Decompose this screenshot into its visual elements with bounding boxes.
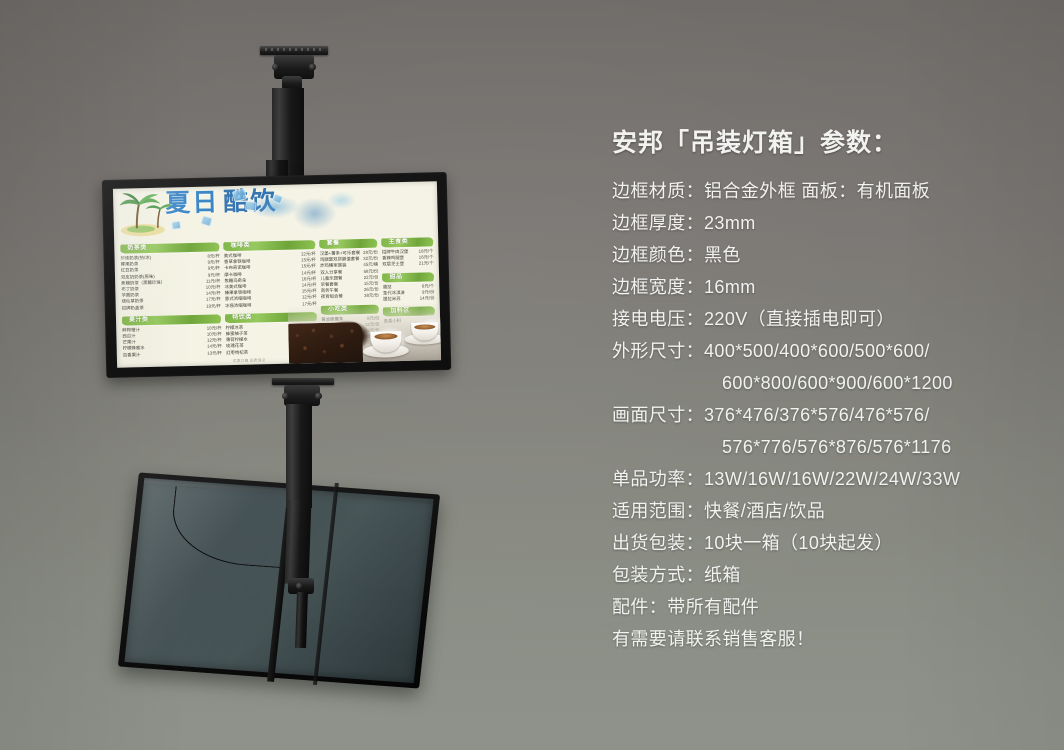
menu-item-price: 38元/份 [361, 293, 379, 300]
menu-section: 主食类招牌牛肉汉堡18元/个香辣鸡腿堡16元/个双层芝士堡21元/个 [382, 237, 434, 268]
menu-item-name: 招牌奶盖茶 [122, 305, 144, 312]
menu-section: 奶茶类珍珠奶茶(热/冰)8元/杯椰果奶茶9元/杯红豆奶茶9元/杯双皮奶奶茶(原味… [120, 242, 221, 311]
menu-item-name: 夜宵组合餐 [321, 294, 343, 301]
product-photo-canvas: 夏日酷饮 [0, 0, 1064, 750]
mount-pole-through-panel [285, 500, 312, 585]
menu-item-price: 14元/份 [417, 295, 435, 302]
menu-item-list: 汉堡+薯条+可乐套餐28元/份鸡腿堡双拼超值套餐32元/份炸鸡桶家庭装45元/桶… [320, 250, 379, 301]
coffee-liquid-back [414, 324, 435, 330]
menu-section-header: 果汁类 [122, 314, 222, 325]
spec-text-block: 安邦「吊装灯箱」参数： 边框材质：铝合金外框 面板：有机面板边框厚度：23mm边… [612, 126, 1042, 655]
menu-section: 果汁类鲜榨橙汁10元/杯西瓜汁10元/杯芒果汁12元/杯柠檬蜂蜜水14元/杯百香… [122, 314, 222, 358]
menu-item-list: 珍珠奶茶(热/冰)8元/杯椰果奶茶9元/杯红豆奶茶9元/杯双皮奶奶茶(原味)9元… [121, 253, 222, 311]
mount-pole-tail [295, 592, 308, 648]
ice-cube-3 [201, 215, 213, 226]
menu-item-list: 蛋挞6元/个圣代冰淇淋9元/份提拉米苏14元/份 [383, 283, 435, 303]
menu-item-row: 夜宵组合餐38元/份 [321, 293, 379, 301]
light-box-aluminium-frame: 夏日酷饮 [102, 172, 452, 378]
spec-line: 边框材质：铝合金外框 面板：有机面板 [612, 175, 1042, 207]
menu-item-name: 冰摇浓缩咖啡 [225, 302, 251, 309]
menu-item-price: 19元/杯 [203, 303, 221, 310]
menu-item-name: 红枣枸杞茶 [226, 349, 248, 356]
menu-item-row: 双层芝士堡21元/个 [382, 261, 434, 268]
menu-hero-banner: 夏日酷饮 [113, 181, 438, 247]
menu-section-title: 奶茶类 [127, 244, 147, 253]
ceiling-plate-holes [265, 48, 323, 51]
menu-section-header: 咖啡类 [224, 240, 316, 251]
spec-line: 配件：带所有配件 [612, 591, 1042, 623]
lower-panel-bolt [296, 583, 303, 590]
menu-section-header: 主食类 [382, 237, 434, 247]
spec-line: 600*800/600*900/600*1200 [612, 367, 1042, 399]
spec-line: 边框颜色：黑色 [612, 239, 1042, 271]
menu-section-header: 套餐 [320, 239, 378, 249]
menu-item-price: 21元/个 [416, 261, 434, 268]
lower-mount-bracket [258, 378, 358, 508]
spec-line: 接电电压：220V（直接插电即可） [612, 303, 1042, 335]
ice-cube-4 [171, 221, 181, 230]
menu-title-part1: 夏日 [165, 187, 220, 217]
spec-line: 576*776/576*876/576*1176 [612, 431, 1042, 463]
menu-section-title: 果汁类 [129, 316, 149, 325]
menu-item-price: 13元/杯 [204, 350, 222, 357]
coffee-photo [288, 302, 441, 364]
menu-item-row: 招牌奶盖茶19元/杯 [122, 303, 221, 312]
menu-section-title: 甜品 [389, 273, 402, 282]
spec-line: 包装方式：纸箱 [612, 559, 1042, 591]
knuckle-bolt-right [309, 64, 316, 71]
knuckle-bolt-left [272, 64, 279, 71]
coffee-beans-image [288, 322, 363, 364]
menu-section: 甜品蛋挞6元/个圣代冰淇淋9元/份提拉米苏14元/份 [382, 272, 434, 303]
spec-line: 外形尺寸：400*500/400*600/500*600/ [612, 335, 1042, 367]
knuckle-bolt-left-lower [282, 392, 289, 399]
menu-item-list: 鲜榨橙汁10元/杯西瓜汁10元/杯芒果汁12元/杯柠檬蜂蜜水14元/杯百香果汁1… [122, 325, 222, 358]
knuckle-bolt-right-lower [315, 392, 322, 399]
water-splash-art [241, 185, 360, 238]
menu-section-title: 咖啡类 [231, 242, 251, 251]
menu-item-list: 招牌牛肉汉堡18元/个香辣鸡腿堡16元/个双层芝士堡21元/个 [382, 248, 434, 268]
coffee-liquid-front [374, 333, 398, 339]
hanging-light-box[interactable]: 夏日酷饮 [102, 172, 452, 378]
menu-section-header: 甜品 [382, 272, 434, 282]
swivel-knuckle-bottom [284, 385, 320, 406]
lower-plate [272, 378, 334, 385]
menu-section-title: 主食类 [389, 238, 409, 247]
spec-line-list: 边框材质：铝合金外框 面板：有机面板边框厚度：23mm边框颜色：黑色边框宽度：1… [612, 175, 1042, 655]
menu-item-name: 提拉米苏 [383, 296, 401, 303]
spec-line: 出货包装：10块一箱（10块起发） [612, 527, 1042, 559]
spec-line: 有需要请联系销售客服！ [612, 623, 1042, 655]
spec-line: 边框宽度：16mm [612, 271, 1042, 303]
menu-item-list: 美式咖啡12元/杯香草拿铁咖啡15元/杯卡布奇诺咖啡15元/杯摩卡咖啡14元/杯… [224, 251, 317, 309]
ceiling-plate [260, 46, 328, 55]
ice-cube-2 [245, 201, 257, 211]
spec-line: 单品功率：13W/16W/16W/22W/24W/33W [612, 463, 1042, 495]
menu-item-name: 百香果汁 [123, 352, 141, 359]
menu-section-title: 特饮类 [232, 313, 252, 322]
spec-line: 边框厚度：23mm [612, 207, 1042, 239]
spec-line: 画面尺寸：376*476/376*576/476*576/ [612, 399, 1042, 431]
menu-item-row: 百香果汁13元/杯 [123, 350, 222, 359]
light-box-menu-face: 夏日酷饮 [113, 181, 441, 368]
spec-title: 安邦「吊装灯箱」参数： [612, 126, 1042, 160]
menu-section-header: 奶茶类 [120, 242, 220, 253]
menu-item-name: 双层芝士堡 [382, 261, 404, 268]
menu-section: 咖啡类美式咖啡12元/杯香草拿铁咖啡15元/杯卡布奇诺咖啡15元/杯摩卡咖啡14… [224, 240, 318, 309]
menu-column: 奶茶类珍珠奶茶(热/冰)8元/杯椰果奶茶9元/杯红豆奶茶9元/杯双皮奶奶茶(原味… [120, 242, 222, 365]
spec-line: 适用范围：快餐/酒店/饮品 [612, 495, 1042, 527]
ceiling-mount-bracket [248, 46, 348, 186]
menu-section: 套餐汉堡+薯条+可乐套餐28元/份鸡腿堡双拼超值套餐32元/份炸鸡桶家庭装45元… [320, 239, 380, 301]
mount-pole-lower [286, 404, 312, 508]
menu-watermark: 优质灯箱 品质保证 [233, 358, 266, 364]
menu-section-title: 套餐 [327, 240, 340, 249]
